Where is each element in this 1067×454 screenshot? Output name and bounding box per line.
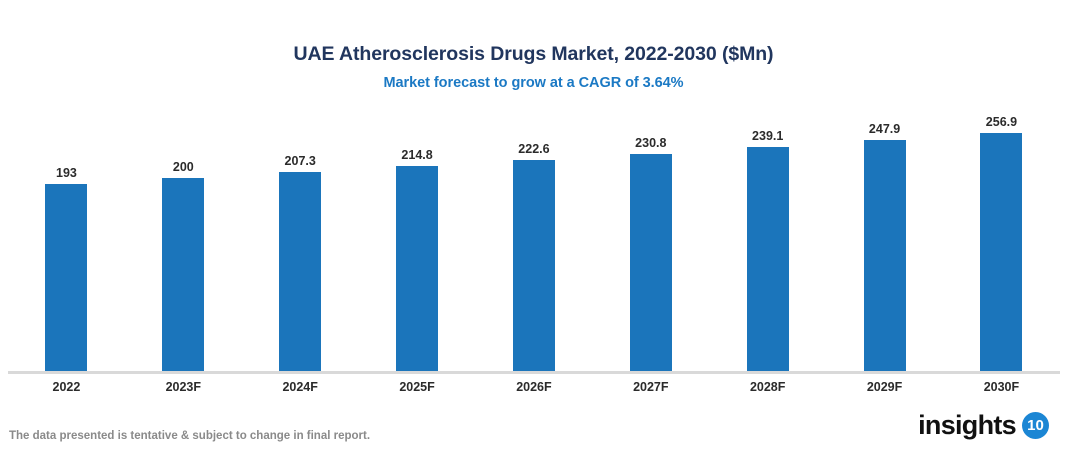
x-axis-category-labels: 20222023F2024F2025F2026F2027F2028F2029F2… — [8, 378, 1060, 396]
title-block: UAE Atherosclerosis Drugs Market, 2022-2… — [0, 42, 1067, 92]
bar-value-label: 256.9 — [986, 115, 1017, 129]
plot-area: 193200207.3214.8222.6230.8239.1247.9256.… — [8, 110, 1060, 374]
bar-value-label: 207.3 — [285, 154, 316, 168]
chart-title: UAE Atherosclerosis Drugs Market, 2022-2… — [0, 42, 1067, 66]
chart-card: UAE Atherosclerosis Drugs Market, 2022-2… — [0, 0, 1067, 454]
bar-group[interactable]: 214.8 — [359, 110, 475, 371]
logo-wordmark: insights — [918, 410, 1016, 440]
insights10-logo: insights 10 — [918, 408, 1049, 442]
bar-value-label: 230.8 — [635, 136, 666, 150]
bar-value-label: 214.8 — [401, 148, 432, 162]
chart-subtitle: Market forecast to grow at a CAGR of 3.6… — [0, 74, 1067, 92]
bar-group[interactable]: 222.6 — [476, 110, 592, 371]
bar-rect[interactable] — [396, 166, 438, 371]
bar-rect[interactable] — [630, 154, 672, 372]
bar-rect[interactable] — [864, 140, 906, 371]
bar-value-label: 193 — [56, 166, 77, 180]
x-axis-label: 2029F — [827, 378, 943, 396]
x-axis-label: 2030F — [943, 378, 1059, 396]
bar-rect[interactable] — [513, 160, 555, 371]
disclaimer-note: The data presented is tentative & subjec… — [9, 428, 370, 444]
bar-rect[interactable] — [980, 133, 1022, 372]
x-axis-label: 2025F — [359, 378, 475, 396]
bar-group[interactable]: 239.1 — [710, 110, 826, 371]
bar-value-label: 239.1 — [752, 129, 783, 143]
bar-group[interactable]: 230.8 — [593, 110, 709, 371]
x-axis-label: 2027F — [593, 378, 709, 396]
bar-rect[interactable] — [45, 184, 87, 371]
bar-series: 193200207.3214.8222.6230.8239.1247.9256.… — [8, 110, 1060, 371]
bar-group[interactable]: 193 — [8, 110, 124, 371]
x-axis-label: 2023F — [125, 378, 241, 396]
bar-group[interactable]: 207.3 — [242, 110, 358, 371]
bar-value-label: 200 — [173, 160, 194, 174]
bar-group[interactable]: 247.9 — [827, 110, 943, 371]
bar-group[interactable]: 256.9 — [943, 110, 1059, 371]
bar-value-label: 247.9 — [869, 122, 900, 136]
x-axis-label: 2028F — [710, 378, 826, 396]
x-axis-label: 2024F — [242, 378, 358, 396]
bar-rect[interactable] — [162, 178, 204, 371]
logo-badge-icon: 10 — [1022, 412, 1049, 439]
bar-group[interactable]: 200 — [125, 110, 241, 371]
x-axis-line — [8, 371, 1060, 374]
bar-rect[interactable] — [279, 172, 321, 371]
x-axis-label: 2026F — [476, 378, 592, 396]
x-axis-label: 2022 — [8, 378, 124, 396]
bar-rect[interactable] — [747, 147, 789, 371]
bar-value-label: 222.6 — [518, 142, 549, 156]
